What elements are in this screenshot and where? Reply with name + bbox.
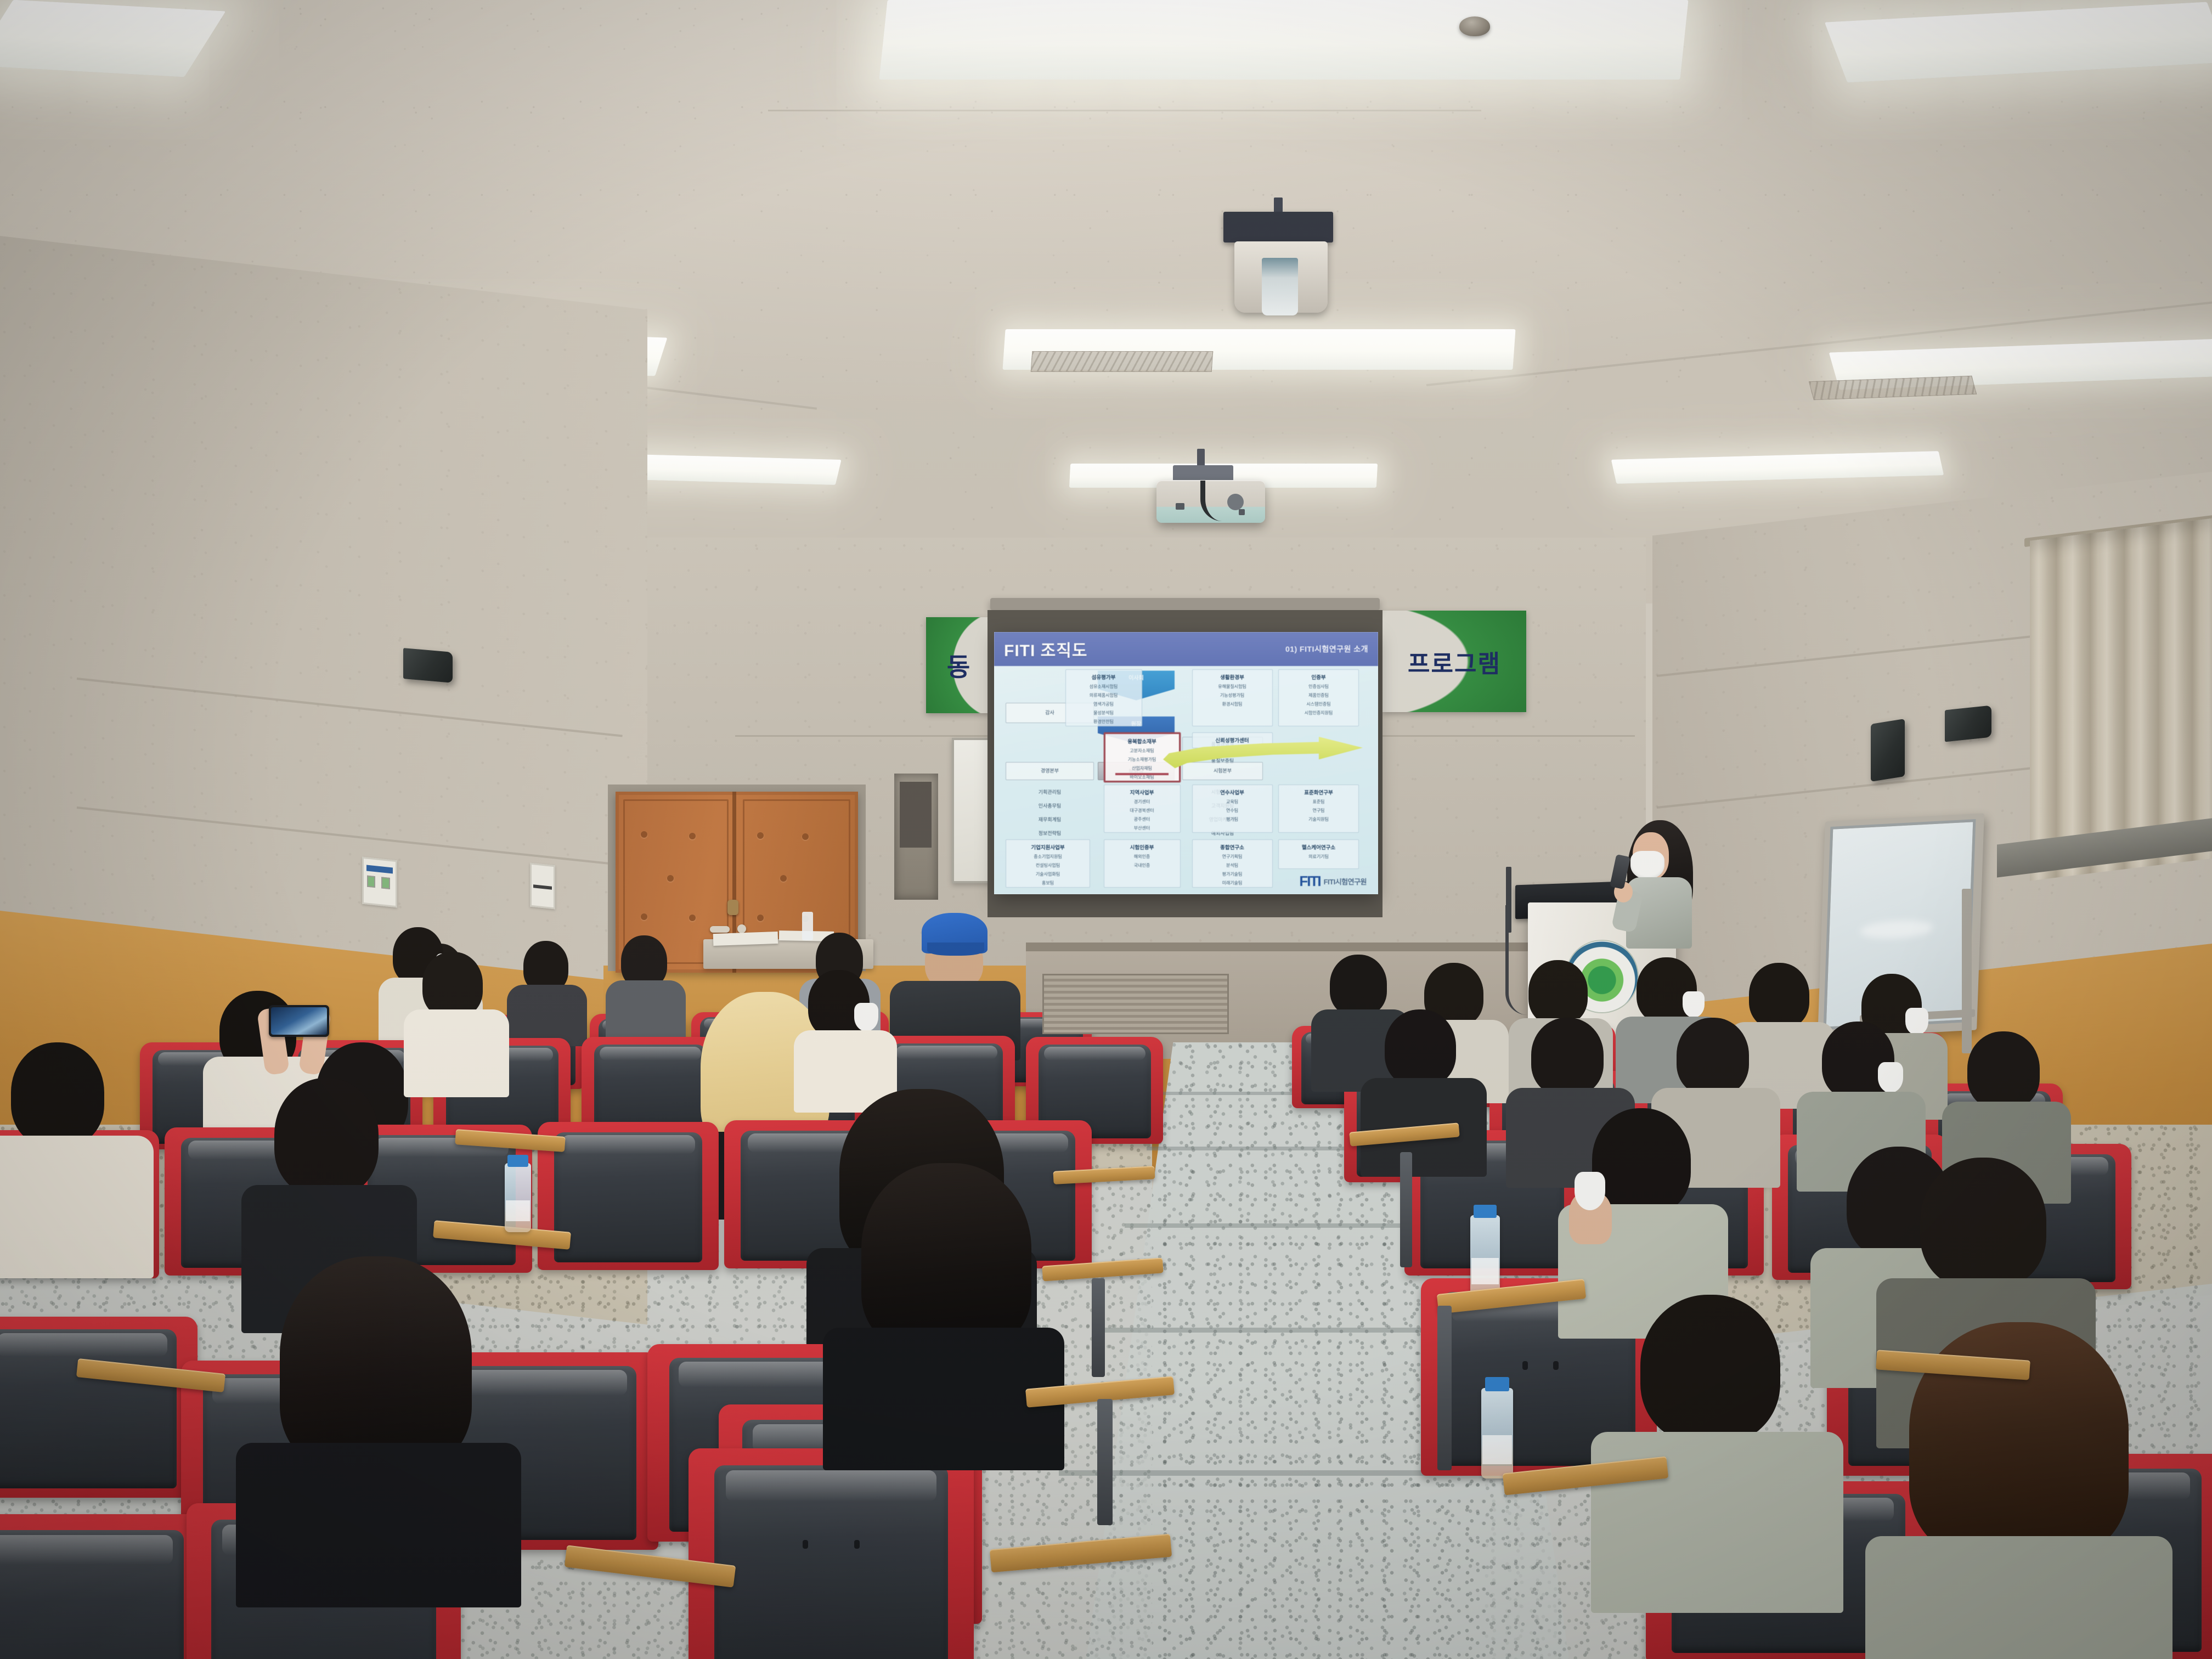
attendee-torso — [236, 1443, 521, 1607]
armrest-post — [1400, 1152, 1412, 1267]
armrest-post — [1092, 1278, 1105, 1377]
seat[interactable] — [689, 1448, 974, 1659]
attendee-torso — [1865, 1536, 2172, 1659]
dept-item: 고분자소재팀 — [1130, 748, 1154, 754]
bottle-cap-icon — [1485, 1377, 1509, 1391]
dept-item: 기능성평가팀 — [1220, 692, 1244, 698]
attendee-torso — [1591, 1432, 1843, 1613]
org-item-label: 정보전략팀 — [1039, 831, 1061, 836]
dept-card: 기업지원사업부 중소기업지원팀 컨설팅사업팀 기술사업화팀 홍보팀 — [1006, 839, 1090, 887]
dept-item: 평가기술팀 — [1222, 871, 1243, 877]
dept-name: 섬유평가부 — [1092, 673, 1116, 681]
org-col-mid-header: 시험본부 — [1214, 768, 1232, 774]
door-tuft — [757, 832, 764, 839]
attendee-torso — [606, 980, 686, 1043]
attendee — [0, 1042, 154, 1262]
slide-title: FITI 조직도 — [1004, 637, 1087, 661]
door-tuft — [689, 833, 696, 839]
whiteboard-smudge — [1860, 919, 1933, 940]
banner-right-text: 프로그램 — [1408, 644, 1501, 679]
water-bottle[interactable] — [1481, 1388, 1513, 1479]
dept-name: 기업지원사업부 — [1031, 843, 1064, 851]
panel-button[interactable] — [367, 876, 375, 888]
panel-label-bar — [533, 884, 552, 890]
dept-item: 분석팀 — [1226, 862, 1238, 868]
org-item-label: 재무회계팀 — [1039, 817, 1061, 822]
attendee — [400, 952, 510, 1089]
ceiling-camera-housing — [1223, 212, 1333, 242]
dept-item: 의류제품시험팀 — [1090, 692, 1118, 698]
ceiling-light — [879, 0, 1688, 80]
seat[interactable] — [0, 1317, 198, 1498]
dept-item: 대구경북센터 — [1130, 808, 1154, 814]
dept-item: 시스템인증팀 — [1306, 701, 1330, 707]
dept-item: 국내인증 — [1134, 862, 1150, 868]
dept-name: 신뢰성평가센터 — [1215, 736, 1249, 744]
attendee-blue-cap — [894, 911, 1015, 1042]
dept-item: 기술사업화팀 — [1036, 871, 1060, 877]
projector-lens-icon — [1227, 494, 1244, 510]
dept-item: 미래기술팀 — [1222, 880, 1243, 886]
dept-item: 의료기기팀 — [1308, 854, 1329, 860]
paper-stack — [713, 932, 778, 946]
wall-speaker-icon — [1871, 719, 1905, 782]
panel-button[interactable] — [381, 877, 390, 889]
dept-item: 물성분석팀 — [1093, 710, 1114, 716]
smoke-detector-icon — [1459, 16, 1490, 36]
whiteboard-stand-leg — [1962, 889, 1972, 1053]
seat-detail — [803, 1540, 808, 1549]
water-bottle[interactable] — [1470, 1215, 1500, 1297]
dept-name: 지역사업부 — [1130, 788, 1154, 796]
door-tuft — [780, 875, 787, 882]
dept-item: 환경시험팀 — [1222, 701, 1243, 707]
dept-name: 생활환경부 — [1220, 673, 1244, 681]
door-tuft — [757, 915, 764, 921]
dept-name: 종합연구소 — [1220, 843, 1244, 851]
water-bottle[interactable] — [505, 1163, 531, 1232]
dept-card: 섬유평가부 섬유소재시험팀 의류제품시험팀 염색가공팀 물성분석팀 환경안전팀 — [1065, 669, 1142, 726]
org-item-label: 인사총무팀 — [1039, 803, 1061, 809]
door-tuft — [689, 915, 696, 921]
seat-detail — [1522, 1361, 1528, 1370]
slide-body: 이사회 감사 원장 부원장 경영본부 품질경영실 품질보증팀 — [994, 666, 1378, 894]
cap-brim-icon — [927, 943, 984, 956]
org-node-quality-header: 경영본부 — [1006, 762, 1094, 780]
wall-speaker-icon — [1945, 706, 1991, 742]
seat[interactable] — [0, 1514, 208, 1659]
seat-highlight — [896, 1046, 997, 1059]
attendee-head — [1330, 955, 1387, 1016]
seat-highlight — [600, 1047, 701, 1060]
slide-logo: FITI FITI시험연구원 — [1299, 873, 1367, 890]
attendee — [505, 941, 587, 1037]
org-item: 인사총무팀 — [1006, 799, 1094, 812]
ceiling-seam — [768, 110, 1481, 111]
attendee-head — [1677, 1018, 1749, 1096]
dept-item: 인증심사팀 — [1308, 684, 1329, 690]
presenter — [1602, 820, 1717, 946]
radiator — [1042, 974, 1229, 1034]
door-tuft — [667, 875, 674, 882]
dept-item: 염색가공팀 — [1093, 701, 1114, 707]
utility-panel[interactable] — [530, 863, 555, 910]
av-cabinet-inner — [900, 782, 932, 848]
bottle-label — [506, 1200, 530, 1221]
bottle-label — [1471, 1258, 1499, 1284]
dept-item: 홍보팀 — [1042, 880, 1054, 886]
dept-item: 표준팀 — [1312, 799, 1324, 805]
auditorium-photo: 동 프로그램 FITI 조직도 01) — [0, 0, 2212, 1659]
dept-name: 연수사업부 — [1220, 788, 1244, 796]
dept-item: 환경안전팀 — [1093, 719, 1114, 725]
dept-item: 평가팀 — [1226, 816, 1238, 822]
dept-item: 중소기업지원팀 — [1034, 854, 1062, 860]
dept-item: 유해물질시험팀 — [1218, 684, 1246, 690]
face-mask-icon — [1630, 851, 1664, 879]
camera-lens-icon — [1262, 258, 1298, 315]
face-mask-icon — [1878, 1062, 1903, 1093]
fire-alarm-panel[interactable] — [362, 857, 397, 908]
dept-item: 해외인증 — [1134, 854, 1150, 860]
dept-item: 교육팀 — [1226, 799, 1238, 805]
bottle-cap-icon — [507, 1155, 528, 1167]
dept-item: 제품인증팀 — [1308, 692, 1329, 698]
dept-card: 시험인증부 해외인증 국내인증 — [1104, 839, 1181, 887]
dept-name: 시험인증부 — [1130, 843, 1154, 851]
armrest-post — [1437, 1306, 1452, 1470]
attendee-hair — [861, 1163, 1031, 1350]
org-item: 기획관리팀 — [1006, 786, 1094, 798]
dept-item: 컨설팅사업팀 — [1036, 862, 1060, 868]
attendee — [1591, 1295, 1843, 1602]
org-item-label: 기획관리팀 — [1039, 789, 1061, 795]
armrest-post — [1097, 1399, 1113, 1525]
dept-card: 헬스케어연구소 의료기기팀 — [1278, 839, 1359, 869]
banner-left: 동 — [926, 617, 992, 713]
door-handle-icon[interactable] — [710, 926, 730, 933]
banner-right: 프로그램 — [1383, 611, 1526, 712]
dept-item: 연구팀 — [1312, 808, 1324, 814]
slide-section-tag: 01) FITI시험연구원 소개 — [1285, 644, 1368, 654]
dept-name: 융복합소재부 — [1127, 737, 1156, 745]
panel-label-bar — [366, 865, 393, 874]
seat-highlight — [0, 1333, 167, 1357]
door-tuft — [641, 913, 647, 920]
attendee-head — [11, 1042, 104, 1147]
dept-item: 기술지원팀 — [1308, 816, 1329, 822]
slide: FITI 조직도 01) FITI시험연구원 소개 이사회 감사 원장 부원장 — [994, 632, 1378, 894]
dept-card: 생활환경부 유해물질시험팀 기능성평가팀 환경시험팀 — [1192, 669, 1273, 726]
slide-header: FITI 조직도 01) FITI시험연구원 소개 — [994, 632, 1378, 666]
door-tuft — [641, 831, 647, 838]
seat-highlight — [726, 1470, 937, 1502]
face-mask-icon — [1683, 991, 1705, 1018]
dept-name: 표준화연구부 — [1304, 788, 1333, 796]
ceiling-vent — [1031, 351, 1214, 372]
door-lock-icon — [727, 900, 738, 915]
face-mask-icon — [1575, 1172, 1605, 1210]
dept-item: 광주센터 — [1134, 816, 1150, 822]
seat-highlight — [0, 1535, 173, 1565]
attendee-head — [422, 952, 483, 1018]
attendee-head — [1528, 960, 1588, 1025]
attendee-head — [1640, 1295, 1780, 1443]
dept-item: 경기센터 — [1134, 799, 1150, 805]
attendee-head — [1920, 1158, 2046, 1289]
attendee — [236, 1256, 521, 1585]
attendee-head — [1385, 1009, 1456, 1086]
projector-port — [1176, 503, 1184, 510]
org-node-test-header: 시험본부 — [1182, 762, 1263, 780]
attendee — [603, 935, 686, 1034]
door-handle-icon[interactable] — [737, 924, 746, 933]
dept-item: 산업자재팀 — [1132, 765, 1152, 771]
dept-item: 기능소재평가팀 — [1128, 757, 1156, 763]
dept-name: 인증부 — [1311, 673, 1325, 681]
attendee-head — [1967, 1031, 2040, 1109]
org-node-audit-label: 감사 — [1045, 710, 1054, 715]
dept-item: 시험인증지원팀 — [1305, 710, 1333, 716]
dept-card: 인증부 인증심사팀 제품인증팀 시스템인증팀 시험인증지원팀 — [1278, 669, 1359, 726]
dept-item: 부산센터 — [1134, 825, 1150, 831]
seat-highlight — [561, 1135, 695, 1154]
seat-detail — [854, 1540, 860, 1549]
org-item: 정보전략팀 — [1006, 827, 1094, 839]
attendee-torso — [404, 1009, 509, 1097]
face-mask-icon — [854, 1003, 878, 1031]
attendee-head — [1531, 1018, 1604, 1096]
fiti-logo-mark: FITI — [1299, 873, 1320, 890]
banner-left-text: 동 — [947, 647, 971, 684]
org-item: 재무회계팀 — [1006, 813, 1094, 826]
bottle-cap-icon — [1474, 1205, 1497, 1218]
seat-detail — [1553, 1361, 1559, 1370]
dept-card: 연수사업부 교육팀 연수팀 평가팀 — [1192, 785, 1273, 832]
dept-name: 헬스케어연구소 — [1302, 843, 1335, 851]
attendee-hair — [280, 1256, 472, 1470]
projector-port — [1239, 509, 1245, 515]
org-col-left-header: 경영본부 — [1041, 768, 1059, 774]
dept-underline — [1115, 773, 1168, 775]
fiti-logo-text: FITI시험연구원 — [1324, 876, 1367, 887]
smartphone-icon[interactable] — [269, 1005, 329, 1037]
seat-highlight — [1044, 1047, 1145, 1060]
wall-speaker-icon — [403, 648, 453, 683]
projection-screen: FITI 조직도 01) FITI시험연구원 소개 이사회 감사 원장 부원장 — [994, 632, 1378, 894]
dept-item: 섬유소재시험팀 — [1090, 684, 1118, 690]
dept-card: 지역사업부 경기센터 대구경북센터 광주센터 부산센터 — [1104, 785, 1181, 832]
dept-item: 연수팀 — [1226, 808, 1238, 814]
attendee-torso — [507, 985, 587, 1046]
bottle-label — [1482, 1435, 1512, 1464]
dept-card: 종합연구소 연구기획팀 분석팀 평가기술팀 미래기술팀 — [1192, 839, 1273, 887]
attendee-torso — [0, 1136, 154, 1278]
door-tuft — [802, 833, 809, 840]
screen-housing — [990, 598, 1380, 610]
phone-screen — [271, 1007, 327, 1035]
dept-card: 표준화연구부 표준팀 연구팀 기술지원팀 — [1278, 785, 1359, 832]
attendee — [793, 970, 897, 1102]
attendee-head — [274, 1078, 379, 1196]
dept-item: 연구기획팀 — [1222, 854, 1243, 860]
